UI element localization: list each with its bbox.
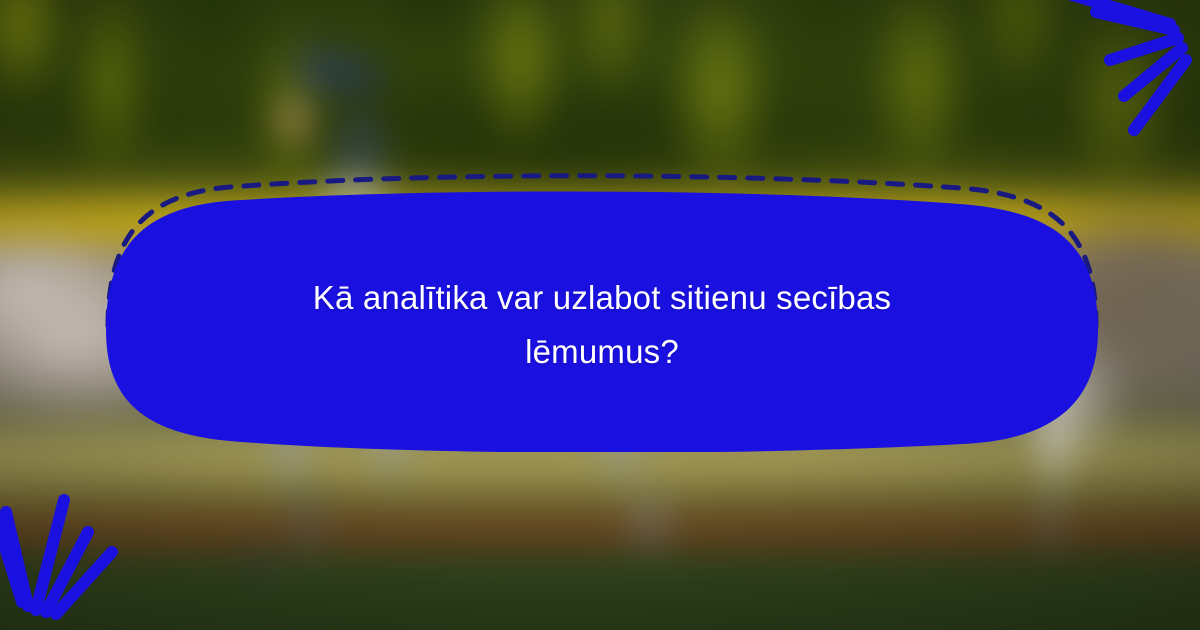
card-canvas: Kā analītika var uzlabot sitienu secības… bbox=[0, 0, 1200, 630]
page-title: Kā analītika var uzlabot sitienu secības… bbox=[150, 255, 1054, 395]
headline-line-1: Kā analītika var uzlabot sitienu secības bbox=[313, 271, 892, 325]
headline-line-2: lēmumus? bbox=[525, 325, 679, 379]
